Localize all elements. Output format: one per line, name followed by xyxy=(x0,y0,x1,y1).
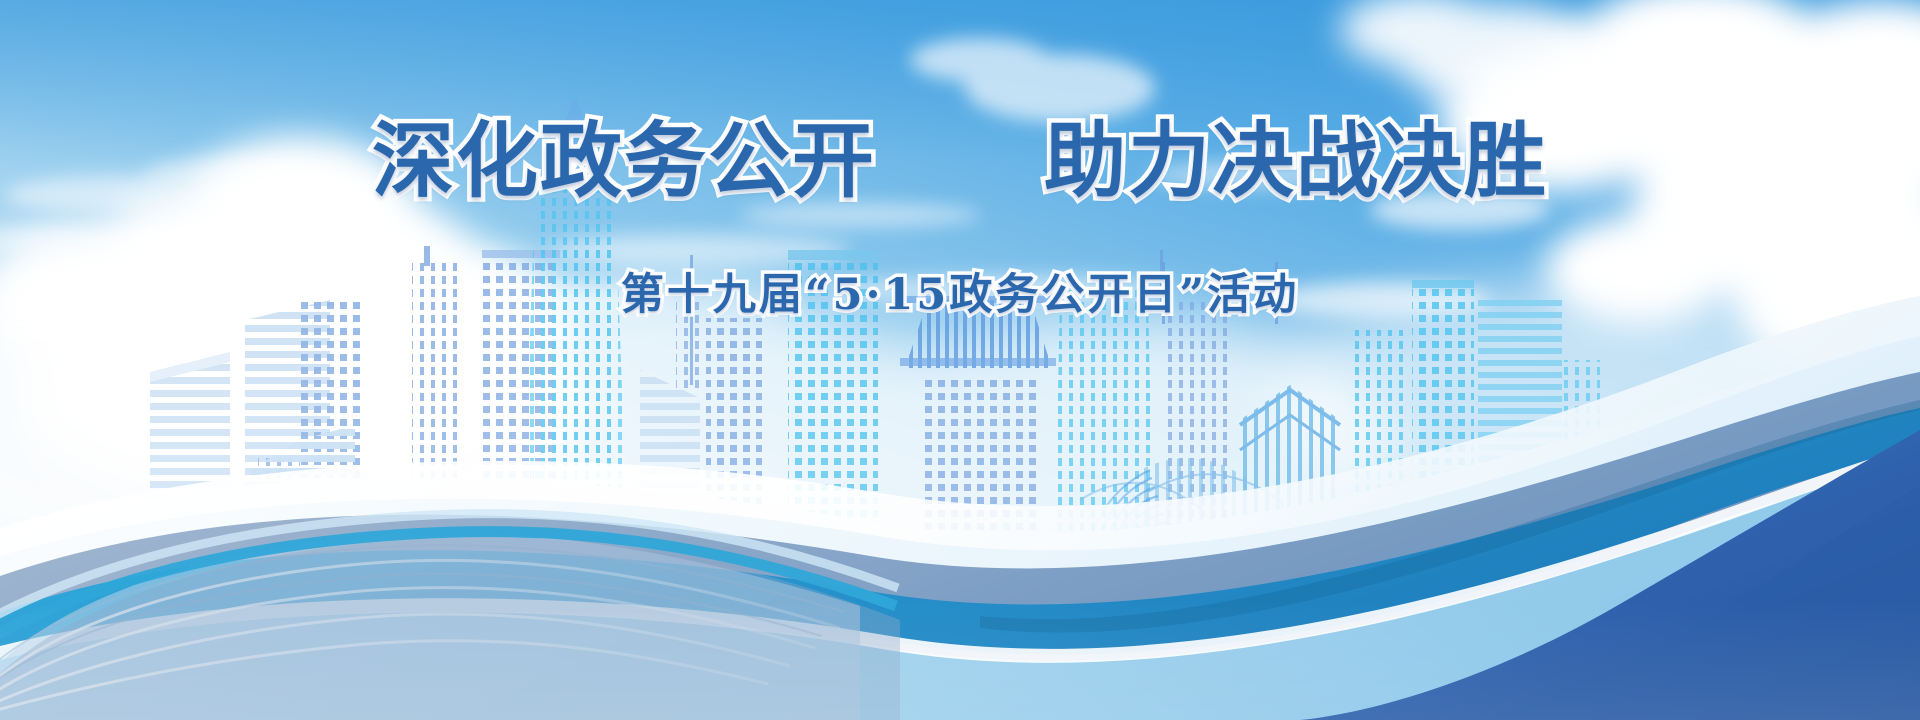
wave-graphics xyxy=(0,0,1920,720)
banner-canvas: 深化政务公开 助力决战决胜 第十九届“5·15政务公开日”活动 xyxy=(0,0,1920,720)
